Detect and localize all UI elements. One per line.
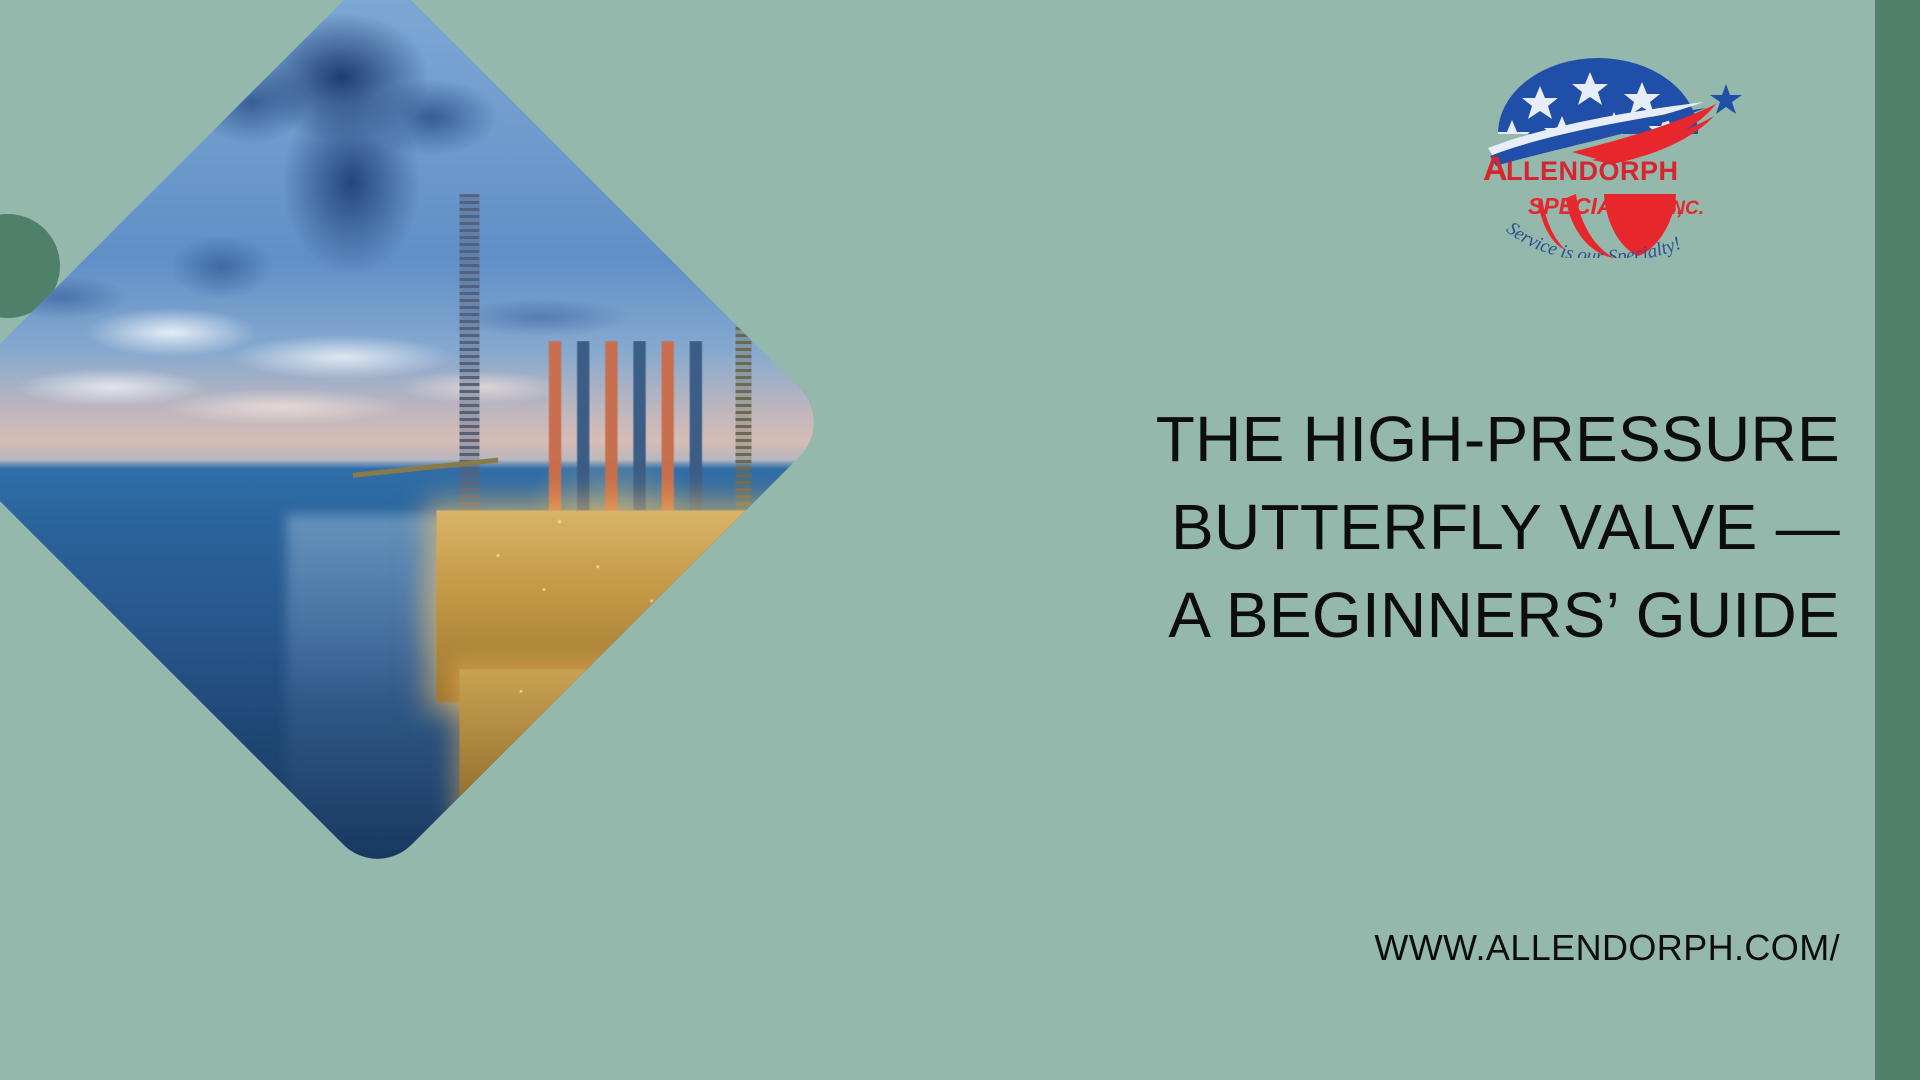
footer-url[interactable]: WWW.ALLENDORPH.COM/	[905, 925, 1840, 971]
logo-sub-inc: INC.	[1666, 198, 1704, 219]
logo-brand-rest: LLENDORPH	[1506, 156, 1679, 186]
decorative-right-band	[1875, 0, 1920, 1080]
title-line-2: BUTTERFLY VALVE —	[905, 483, 1840, 571]
title-line-1: THE HIGH-PRESSURE	[905, 395, 1840, 483]
title-line-3: A BEGINNERS’ GUIDE	[905, 571, 1840, 659]
access-bridge	[683, 684, 833, 725]
platform-lights	[414, 295, 797, 860]
presentation-slide: A LLENDORPH SPECIALTIES, INC. Service is…	[0, 0, 1920, 1080]
platform-legs	[491, 792, 705, 878]
page-title: THE HIGH-PRESSURE BUTTERFLY VALVE — A BE…	[905, 395, 1840, 659]
hero-image-inner	[0, 0, 833, 879]
oil-platform	[414, 295, 797, 860]
logo-brand-a: A	[1483, 150, 1508, 188]
offshore-rig-photo	[0, 0, 833, 879]
company-logo[interactable]: A LLENDORPH SPECIALTIES, INC. Service is…	[1480, 28, 1750, 258]
logo-sub-specialties: SPECIALTIES,	[1528, 193, 1684, 219]
star-icon	[1710, 84, 1742, 114]
hero-image-diamond	[0, 0, 834, 879]
